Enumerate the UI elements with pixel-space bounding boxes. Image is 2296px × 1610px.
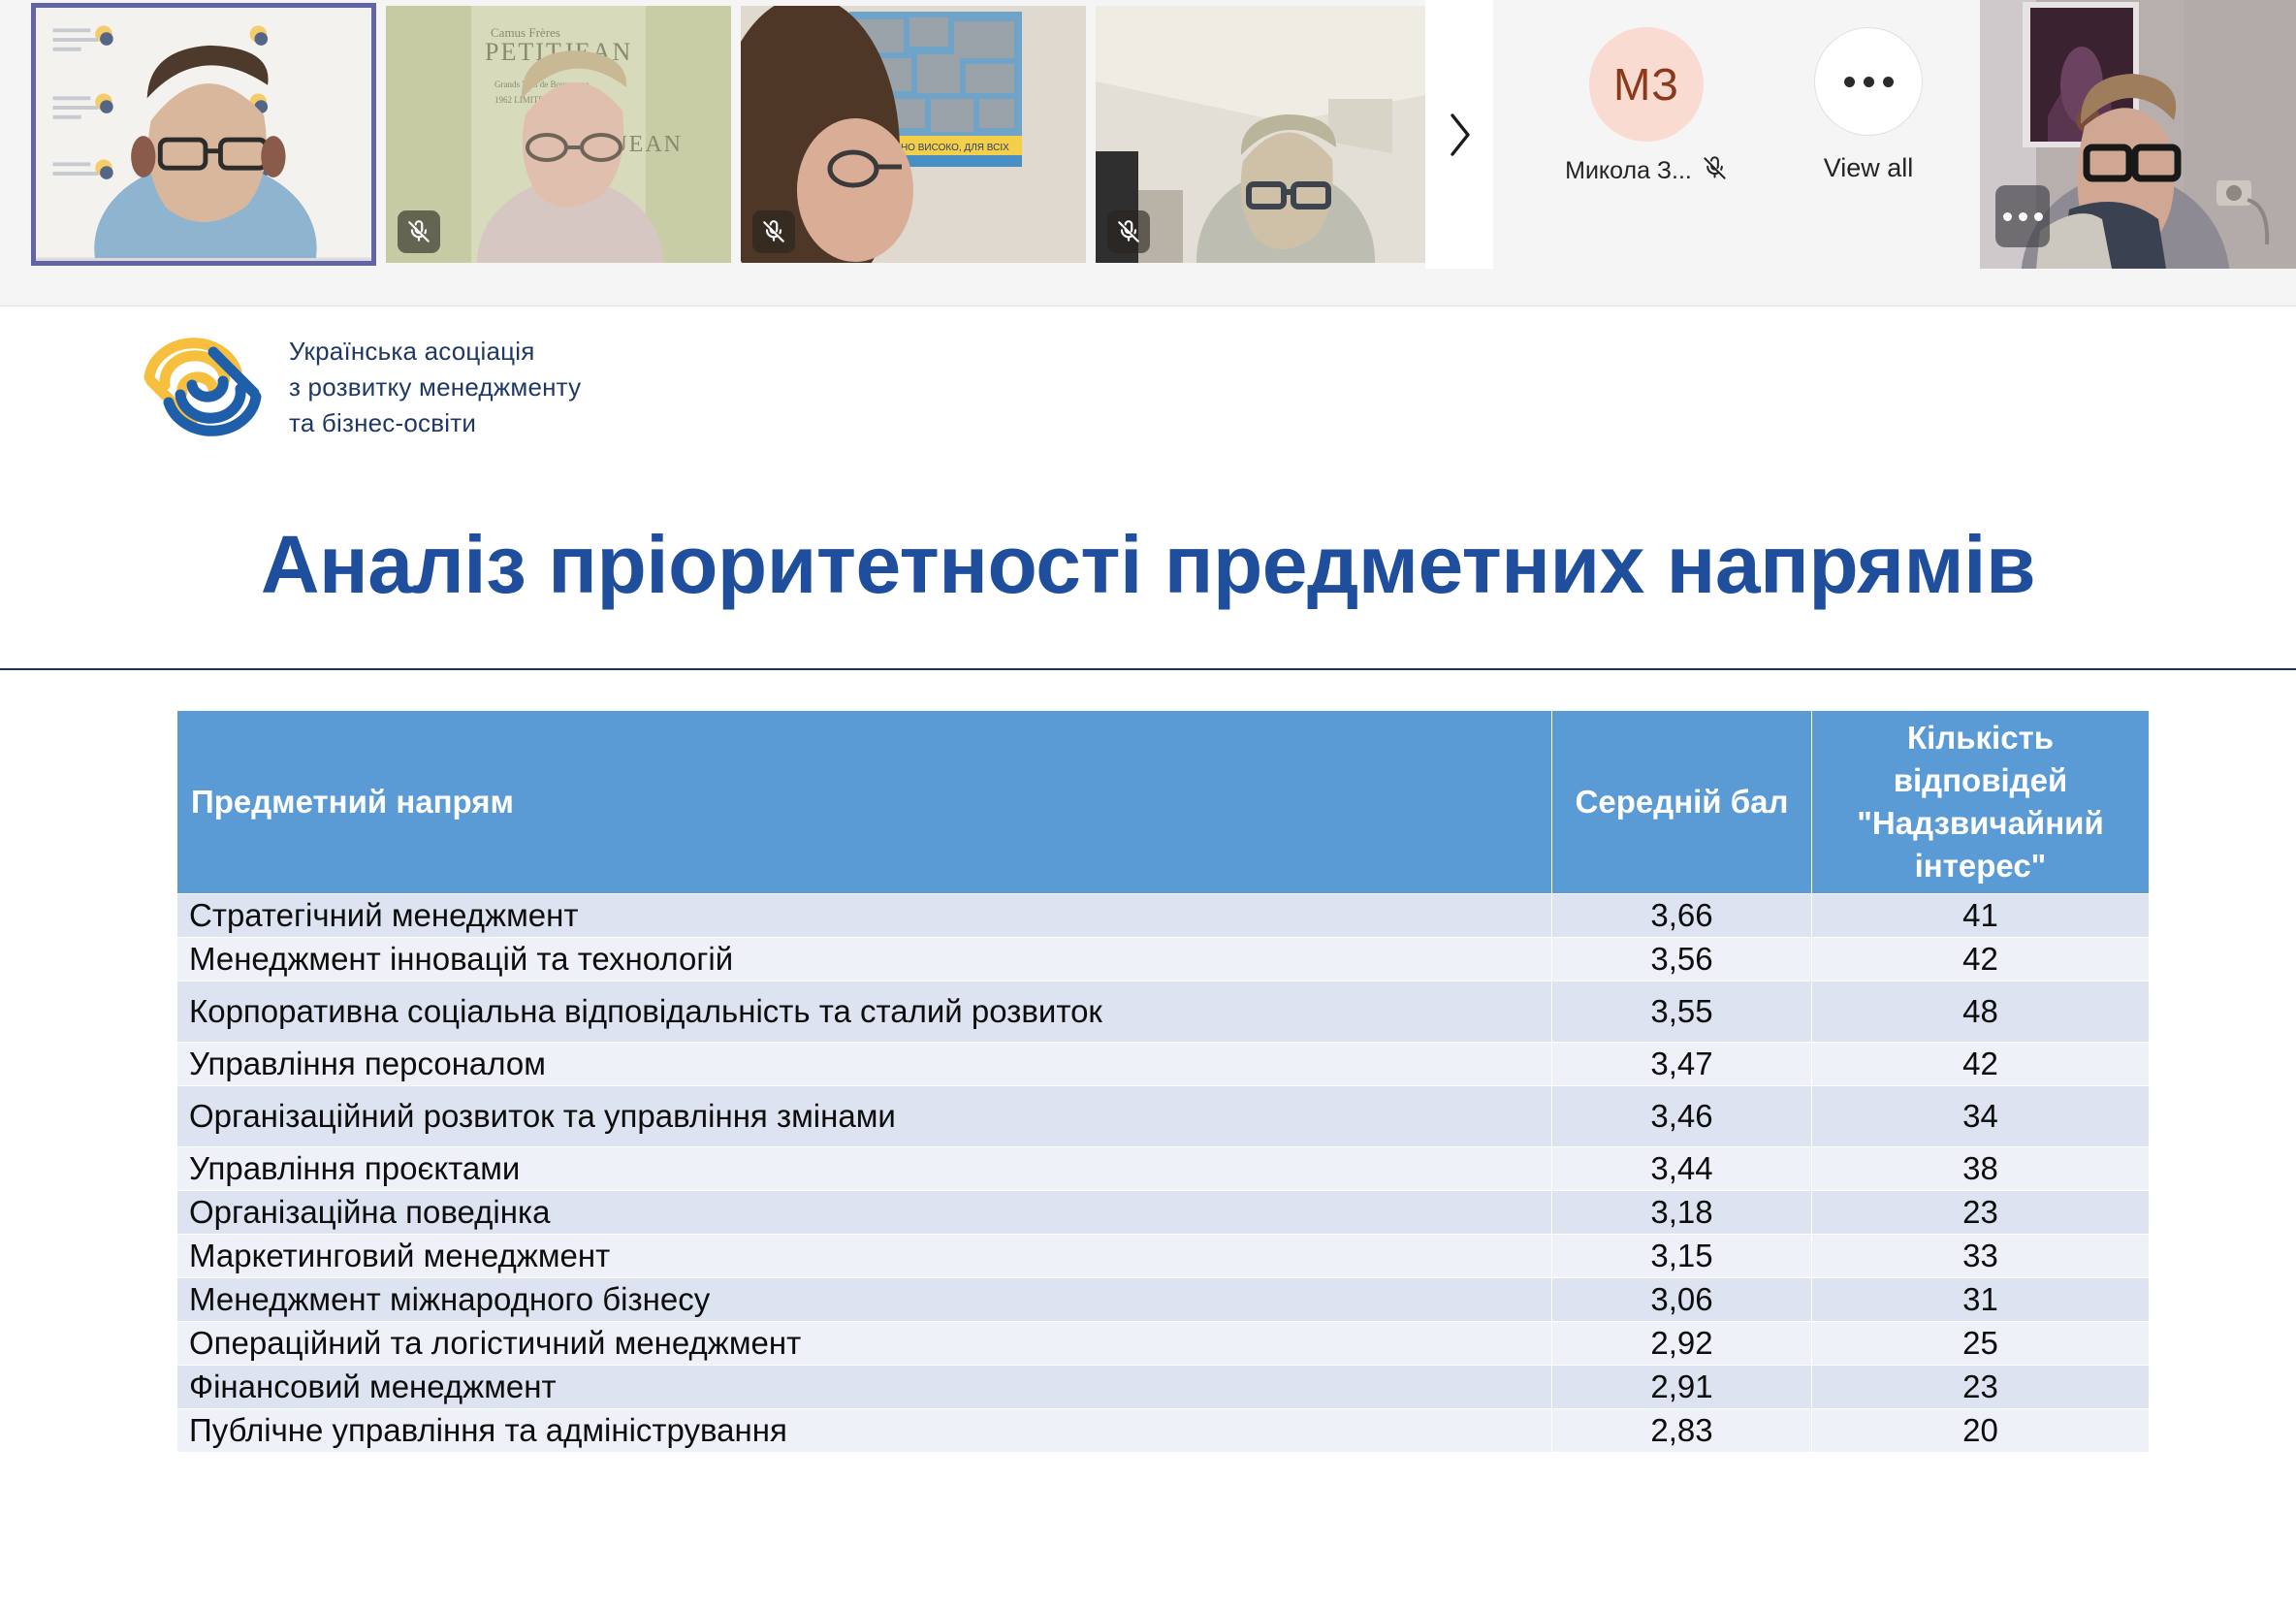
brand-text: Українська асоціація з розвитку менеджме… — [289, 334, 581, 441]
cell-average: 2,83 — [1552, 1408, 1812, 1452]
column-header-average[interactable]: Середній бал — [1552, 711, 1812, 894]
title-divider — [0, 668, 2296, 670]
cell-count: 38 — [1812, 1146, 2150, 1190]
video-tile-1-feed — [36, 8, 371, 258]
cell-average: 3,66 — [1552, 893, 1812, 937]
page-title: Аналіз пріоритетності предметних напрямі… — [0, 518, 2296, 612]
cell-average: 3,06 — [1552, 1277, 1812, 1321]
table-row: Публічне управління та адміністрування2,… — [177, 1408, 2150, 1452]
cell-count: 42 — [1812, 937, 2150, 981]
table-row: Управління персоналом3,4742 — [177, 1042, 2150, 1085]
cell-average: 3,18 — [1552, 1190, 1812, 1234]
more-options-icon[interactable] — [1995, 185, 2050, 247]
cell-average: 2,92 — [1552, 1321, 1812, 1365]
presentation-slide: Українська асоціація з розвитку менеджме… — [0, 307, 2296, 1610]
priority-table-wrapper: Предметний напрям Середній бал Кількість… — [176, 710, 2149, 1453]
brand-lockup: Українська асоціація з розвитку менеджме… — [142, 334, 581, 441]
cell-count: 31 — [1812, 1277, 2150, 1321]
chevron-right-icon — [1443, 109, 1476, 161]
uamdba-spiral-logo — [142, 337, 264, 437]
view-all-label: View all — [1767, 153, 1970, 183]
view-all-button[interactable]: View all — [1767, 27, 1970, 183]
next-participants-button[interactable] — [1425, 0, 1493, 269]
table-row: Маркетинговий менеджмент3,1533 — [177, 1234, 2150, 1277]
cell-subject: Операційний та логістичний менеджмент — [177, 1321, 1552, 1365]
meeting-video-strip: Camus Frères PETITJEAN TITJEAN Grands Vi… — [0, 0, 2296, 306]
cell-count: 33 — [1812, 1234, 2150, 1277]
table-row: Менеджмент інновацій та технологій3,5642 — [177, 937, 2150, 981]
participant-avatar-cell[interactable]: МЗ Микола З... — [1549, 27, 1743, 186]
cell-count: 42 — [1812, 1042, 2150, 1085]
cell-subject: Організаційний розвиток та управління зм… — [177, 1085, 1552, 1146]
table-body: Стратегічний менеджмент3,6641Менеджмент … — [177, 893, 2150, 1452]
participant-name-row: Микола З... — [1549, 155, 1743, 186]
cell-subject: Управління персоналом — [177, 1042, 1552, 1085]
table-row: Корпоративна соціальна відповідальність … — [177, 981, 2150, 1042]
table-row: Стратегічний менеджмент3,6641 — [177, 893, 2150, 937]
column-header-subject[interactable]: Предметний напрям — [177, 711, 1552, 894]
cell-count: 41 — [1812, 893, 2150, 937]
cell-count: 34 — [1812, 1085, 2150, 1146]
video-tile-5[interactable] — [1980, 0, 2296, 269]
brand-line-1: Українська асоціація — [289, 334, 581, 370]
avatar: МЗ — [1589, 27, 1704, 142]
cell-subject: Корпоративна соціальна відповідальність … — [177, 981, 1552, 1042]
table-row: Менеджмент міжнародного бізнесу3,0631 — [177, 1277, 2150, 1321]
cell-average: 3,46 — [1552, 1085, 1812, 1146]
cell-average: 3,47 — [1552, 1042, 1812, 1085]
participant-name: Микола З... — [1565, 157, 1692, 185]
mic-off-icon[interactable] — [1702, 155, 1728, 186]
cell-subject: Фінансовий менеджмент — [177, 1365, 1552, 1408]
cell-count: 20 — [1812, 1408, 2150, 1452]
priority-table: Предметний напрям Середній бал Кількість… — [176, 710, 2150, 1453]
cell-average: 3,56 — [1552, 937, 1812, 981]
cell-count: 23 — [1812, 1190, 2150, 1234]
table-row: Організаційний розвиток та управління зм… — [177, 1085, 2150, 1146]
mic-off-icon[interactable] — [752, 210, 795, 253]
cell-average: 2,91 — [1552, 1365, 1812, 1408]
column-header-count[interactable]: Кількість відповідей "Надзвичайний інтер… — [1812, 711, 2150, 894]
cell-average: 3,15 — [1552, 1234, 1812, 1277]
video-tile-2[interactable]: Camus Frères PETITJEAN TITJEAN Grands Vi… — [386, 6, 731, 263]
table-row: Фінансовий менеджмент2,9123 — [177, 1365, 2150, 1408]
cell-subject: Маркетинговий менеджмент — [177, 1234, 1552, 1277]
more-horizontal-icon — [1814, 27, 1923, 136]
cell-count: 48 — [1812, 981, 2150, 1042]
brand-line-2: з розвитку менеджменту — [289, 370, 581, 405]
cell-count: 25 — [1812, 1321, 2150, 1365]
video-tile-3[interactable]: НАДІЙНО ВИСОКО, ДЛЯ ВСІХ — [741, 6, 1086, 263]
table-row: Операційний та логістичний менеджмент2,9… — [177, 1321, 2150, 1365]
cell-average: 3,55 — [1552, 981, 1812, 1042]
table-header-row: Предметний напрям Середній бал Кількість… — [177, 711, 2150, 894]
cell-subject: Менеджмент інновацій та технологій — [177, 937, 1552, 981]
mic-off-icon[interactable] — [1107, 210, 1150, 253]
cell-subject: Публічне управління та адміністрування — [177, 1408, 1552, 1452]
table-row: Управління проєктами3,4438 — [177, 1146, 2150, 1190]
table-row: Організаційна поведінка3,1823 — [177, 1190, 2150, 1234]
cell-subject: Менеджмент міжнародного бізнесу — [177, 1277, 1552, 1321]
cell-subject: Організаційна поведінка — [177, 1190, 1552, 1234]
video-tile-1[interactable] — [31, 3, 376, 266]
mic-off-icon[interactable] — [398, 210, 440, 253]
cell-count: 23 — [1812, 1365, 2150, 1408]
cell-subject: Управління проєктами — [177, 1146, 1552, 1190]
cell-average: 3,44 — [1552, 1146, 1812, 1190]
cell-subject: Стратегічний менеджмент — [177, 893, 1552, 937]
video-tile-4[interactable] — [1096, 6, 1425, 263]
brand-line-3: та бізнес-освіти — [289, 405, 581, 441]
